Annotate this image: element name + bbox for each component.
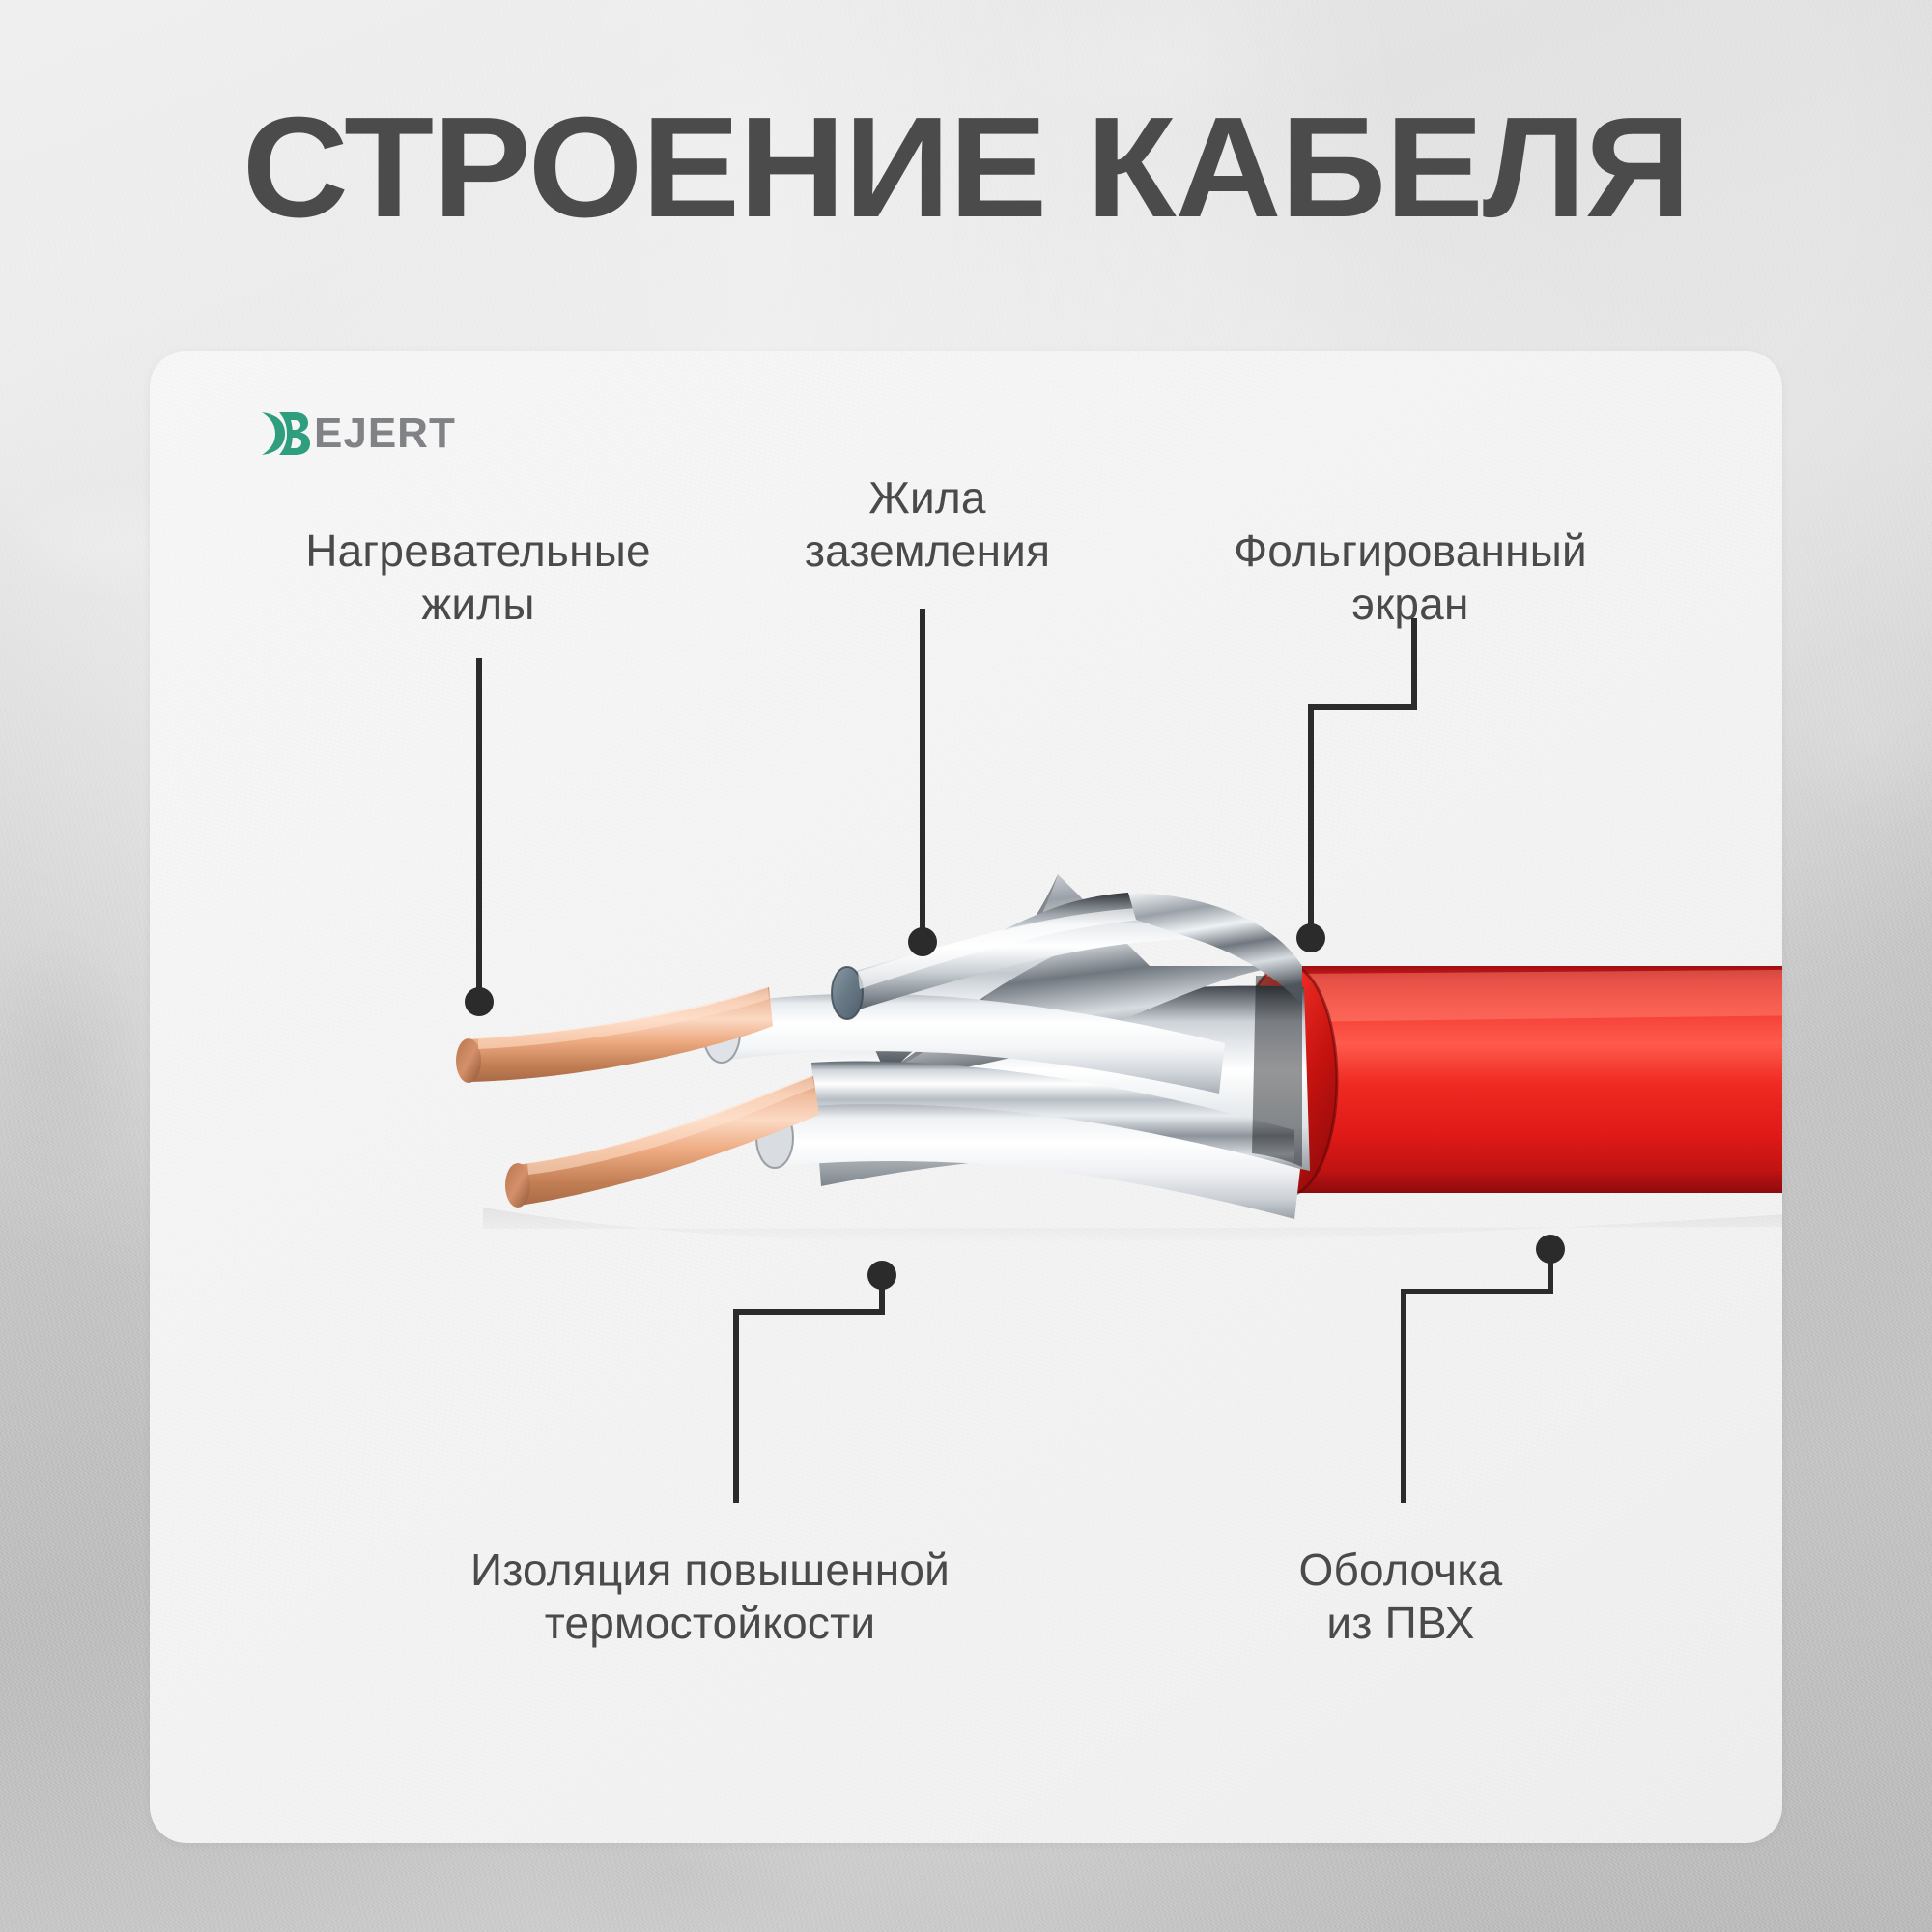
callout-pvc-sheath-line2: из ПВХ: [1005, 1597, 1797, 1650]
callout-insulation-line2: термостойкости: [328, 1597, 1092, 1650]
cable-contact-shadow: [483, 1207, 1893, 1244]
callout-label-ground-core: Жила заземления: [691, 471, 1164, 577]
callout-ground-core-line1: Жила: [691, 471, 1164, 525]
brand-logo: EJERT: [258, 404, 456, 464]
foil-jacket-shadow: [1252, 976, 1302, 1167]
callout-foil-shield-line2: экран: [1150, 578, 1671, 631]
callout-foil-shield-line1: Фольгированный: [1150, 525, 1671, 578]
callout-ground-core-line2: заземления: [691, 525, 1164, 578]
callout-insulation-line1: Изоляция повышенной: [328, 1544, 1092, 1597]
copper-upper-cut-face: [456, 1038, 481, 1083]
bejert-b-mark-icon: [258, 409, 312, 459]
callout-label-insulation: Изоляция повышенной термостойкости: [328, 1544, 1092, 1649]
brand-name: EJERT: [314, 412, 456, 455]
copper-lower-cut-face: [505, 1163, 530, 1207]
cable-geometry: [456, 874, 1893, 1244]
pvc-highlight: [1285, 969, 1893, 1022]
screenshot-root: СТРОЕНИЕ КАБЕЛЯ: [0, 0, 1932, 1932]
callout-label-pvc-sheath: Оболочка из ПВХ: [1005, 1544, 1797, 1649]
callout-label-foil-shield: Фольгированный экран: [1150, 525, 1671, 630]
callout-pvc-sheath-line1: Оболочка: [1005, 1544, 1797, 1597]
callout-heating-cores-line2: жилы: [164, 578, 792, 631]
